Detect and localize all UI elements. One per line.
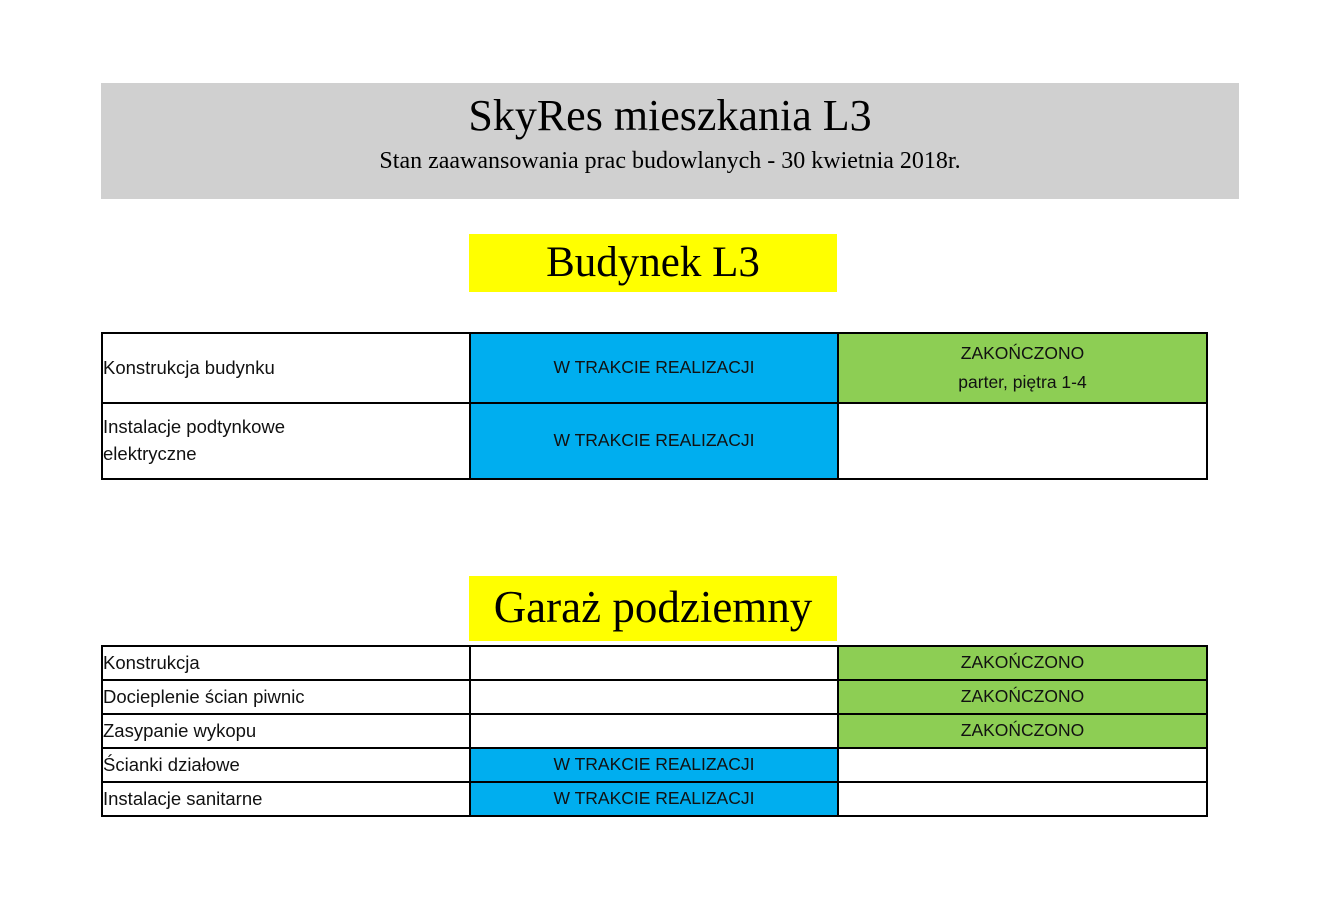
status-table-budynek-l3: Konstrukcja budynku W TRAKCIE REALIZACJI… [101,332,1208,480]
table-row: Zasypanie wykopu ZAKOŃCZONO [102,714,1207,748]
table-row: Docieplenie ścian piwnic ZAKOŃCZONO [102,680,1207,714]
table-row: Instalacje podtynkowe elektryczne W TRAK… [102,403,1207,479]
row-label-instalacje-podtynkowe-elektryczne: Instalacje podtynkowe elektryczne [102,403,470,479]
row-label-instalacje-sanitarne: Instalacje sanitarne [102,782,470,816]
section-banner-budynek-l3: Budynek L3 [469,234,837,292]
page-title: SkyRes mieszkania L3 [468,89,871,143]
table-row: Instalacje sanitarne W TRAKCIE REALIZACJ… [102,782,1207,816]
section-banner-garaz-podziemny: Garaż podziemny [469,576,837,641]
row-label-line-1: Instalacje podtynkowe [103,416,285,437]
status-cell-in-progress: W TRAKCIE REALIZACJI [470,782,838,816]
table-row: Konstrukcja budynku W TRAKCIE REALIZACJI… [102,333,1207,403]
row-label-konstrukcja-budynku: Konstrukcja budynku [102,333,470,403]
status-cell-empty [838,782,1207,816]
table-row: Konstrukcja ZAKOŃCZONO [102,646,1207,680]
status-table-garaz-podziemny: Konstrukcja ZAKOŃCZONO Docieplenie ścian… [101,645,1208,817]
row-label-konstrukcja: Konstrukcja [102,646,470,680]
status-cell-in-progress: W TRAKCIE REALIZACJI [470,748,838,782]
row-label-zasypanie-wykopu: Zasypanie wykopu [102,714,470,748]
row-label-scianki-dzialowe: Ścianki działowe [102,748,470,782]
row-label-docieplenie-scian-piwnic: Docieplenie ścian piwnic [102,680,470,714]
status-cell-completed: ZAKOŃCZONO [838,680,1207,714]
status-main-text: ZAKOŃCZONO [961,343,1084,363]
status-cell-in-progress: W TRAKCIE REALIZACJI [470,403,838,479]
status-cell-completed: ZAKOŃCZONO parter, piętra 1-4 [838,333,1207,403]
status-cell-empty [470,680,838,714]
status-cell-completed: ZAKOŃCZONO [838,646,1207,680]
status-cell-empty [470,646,838,680]
table-row: Ścianki działowe W TRAKCIE REALIZACJI [102,748,1207,782]
status-cell-completed: ZAKOŃCZONO [838,714,1207,748]
status-detail-text: parter, piętra 1-4 [839,370,1206,395]
status-cell-empty [838,403,1207,479]
row-label-line-2: elektryczne [103,443,197,464]
status-cell-empty [470,714,838,748]
page-header-banner: SkyRes mieszkania L3 Stan zaawansowania … [101,83,1239,199]
status-cell-empty [838,748,1207,782]
page-subtitle: Stan zaawansowania prac budowlanych - 30… [379,147,960,176]
status-cell-in-progress: W TRAKCIE REALIZACJI [470,333,838,403]
